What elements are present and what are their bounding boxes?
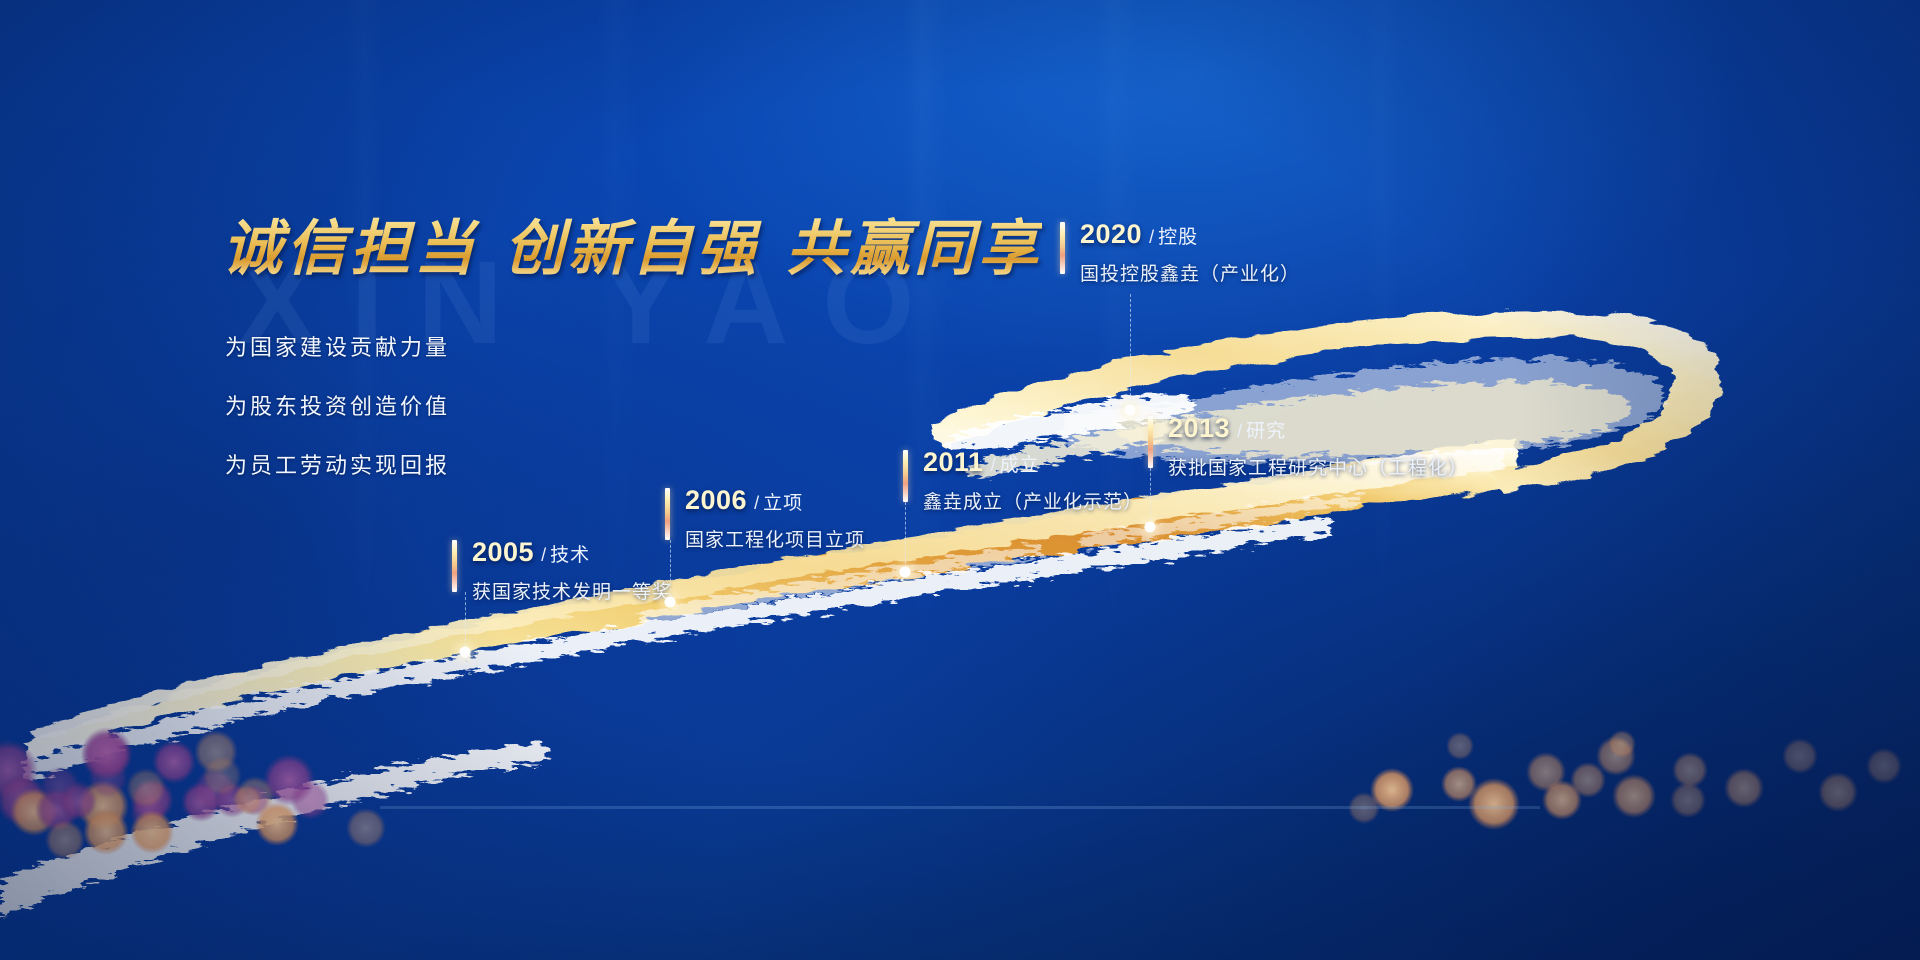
- timeline-category: 控股: [1158, 227, 1198, 248]
- timeline-entry-text: 2020/控股 国投控股鑫垚（产业化）: [1080, 219, 1300, 286]
- timeline-headline: 2006/立项: [685, 485, 865, 516]
- timeline-node-dot-2020: [1125, 405, 1136, 416]
- slogan-line-3: 为员工劳动实现回报: [225, 453, 450, 479]
- timeline-node-dot-2005: [460, 647, 471, 658]
- timeline-description: 国家工程化项目立项: [685, 525, 865, 552]
- page-title-part2: 创新自强: [504, 214, 760, 284]
- timeline-year: 2020: [1080, 219, 1142, 249]
- timeline-separator: /: [991, 455, 996, 475]
- timeline-category: 立项: [763, 493, 803, 514]
- slogan-line-2: 为股东投资创造价值: [225, 394, 450, 420]
- timeline-entry-text: 2005/技术 获国家技术发明一等奖: [472, 537, 672, 604]
- timeline-leader-line-2013: [1150, 468, 1152, 520]
- timeline-marker-bar: [665, 488, 670, 540]
- timeline-separator: /: [541, 545, 546, 565]
- timeline-description: 国投控股鑫垚（产业化）: [1080, 259, 1300, 286]
- timeline-year: 2005: [472, 537, 534, 567]
- timeline-description: 获批国家工程研究中心（工程化）: [1168, 453, 1468, 480]
- bokeh-cluster-right: [1348, 730, 1902, 830]
- timeline-headline: 2011/成立: [923, 447, 1143, 478]
- page-title: 诚信担当创新自强共赢同享: [222, 200, 1042, 287]
- timeline-entry-text: 2006/立项 国家工程化项目立项: [685, 485, 865, 552]
- timeline-year: 2006: [685, 485, 747, 515]
- timeline-entry-text: 2011/成立 鑫垚成立（产业化示范）: [923, 447, 1143, 514]
- timeline-category: 成立: [1000, 455, 1040, 476]
- timeline-entry-text: 2013/研究 获批国家工程研究中心（工程化）: [1168, 413, 1468, 480]
- timeline-leader-line-2011: [905, 502, 907, 564]
- timeline-leader-line-2020: [1130, 294, 1132, 406]
- timeline-year: 2011: [923, 447, 984, 477]
- timeline-headline: 2013/研究: [1168, 413, 1468, 444]
- timeline-separator: /: [1237, 421, 1242, 441]
- timeline-category: 技术: [550, 545, 590, 566]
- timeline-node-dot-2011: [900, 567, 911, 578]
- timeline-separator: /: [1149, 227, 1154, 247]
- timeline-node-dot-2006: [665, 597, 676, 608]
- slogan-list: 为国家建设贡献力量 为股东投资创造价值 为员工劳动实现回报: [225, 335, 450, 512]
- slogan-line-1: 为国家建设贡献力量: [225, 335, 450, 361]
- timeline-node-dot-2013: [1145, 522, 1156, 533]
- timeline-marker-bar: [452, 540, 457, 592]
- timeline-separator: /: [754, 493, 759, 513]
- page-title-part3: 共赢同享: [786, 214, 1042, 284]
- banner-canvas: XIN YAO 诚信担当创新自强共赢同享 为国家建设贡献力量 为股东投资创造价值…: [0, 0, 1920, 960]
- timeline-leader-line-2005: [465, 592, 467, 646]
- timeline-description: 获国家技术发明一等奖: [472, 577, 672, 604]
- page-title-part1: 诚信担当: [222, 214, 478, 284]
- timeline-category: 研究: [1246, 421, 1286, 442]
- timeline-marker-bar: [903, 450, 908, 502]
- timeline-description: 鑫垚成立（产业化示范）: [923, 487, 1143, 514]
- timeline-year: 2013: [1168, 413, 1230, 443]
- timeline-marker-bar: [1148, 416, 1153, 468]
- timeline-marker-bar: [1060, 222, 1065, 274]
- timeline-leader-line-2006: [670, 540, 672, 596]
- bokeh-cluster-left: [0, 727, 386, 860]
- timeline-headline: 2005/技术: [472, 537, 672, 568]
- timeline-headline: 2020/控股: [1080, 219, 1300, 250]
